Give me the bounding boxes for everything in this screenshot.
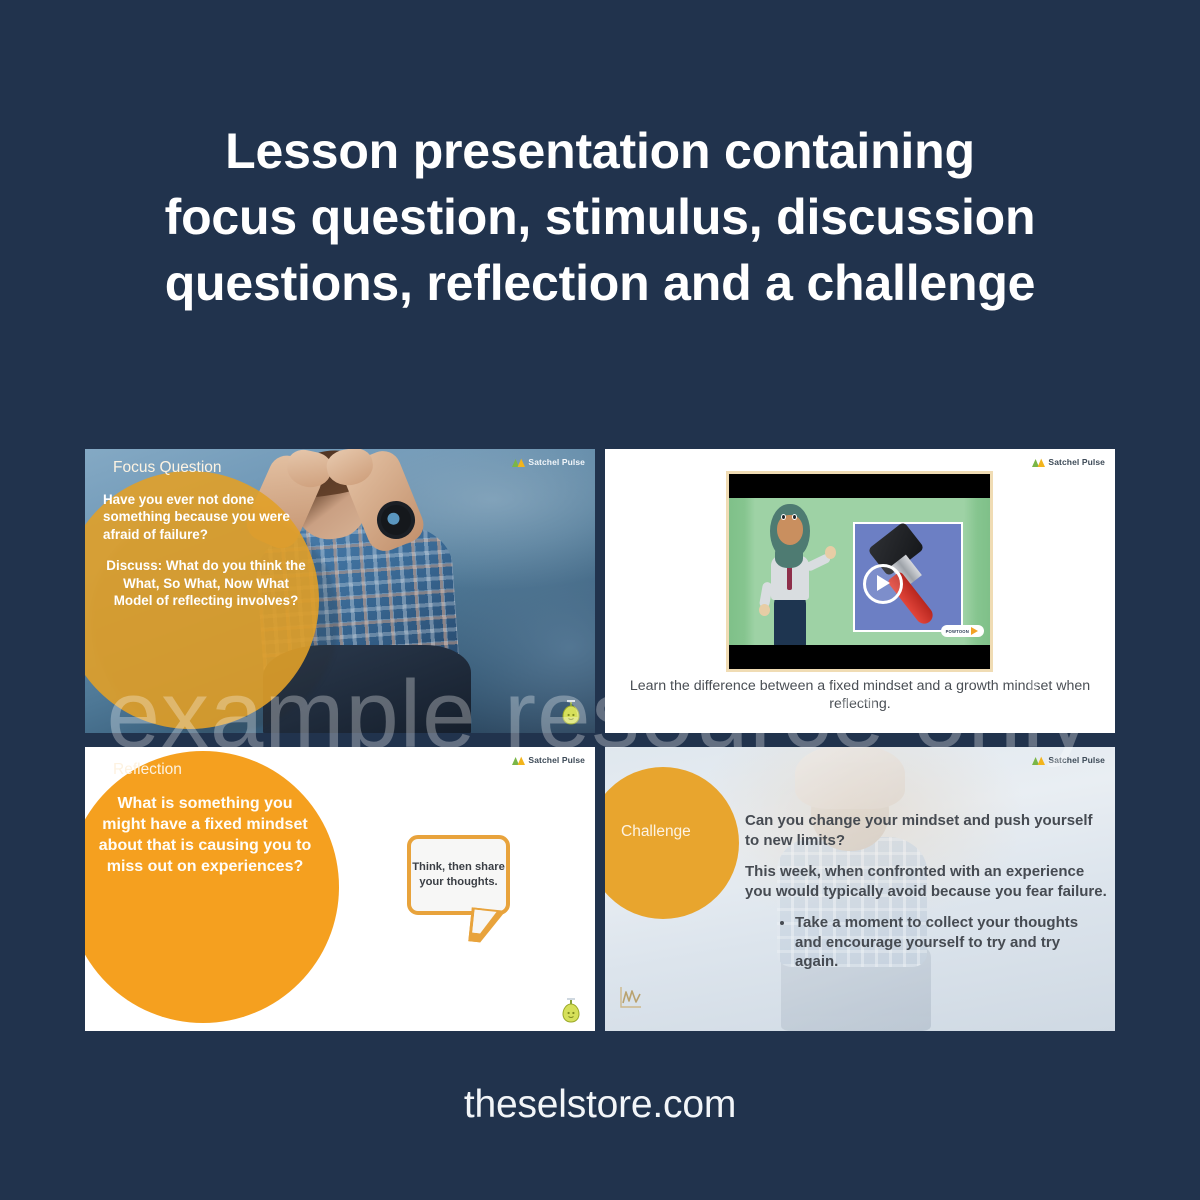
brand-logo: Satchel Pulse (512, 755, 585, 765)
slide-stimulus[interactable]: POWTOON Learn the difference between a f… (605, 449, 1115, 733)
stimulus-caption: Learn the difference between a fixed min… (605, 677, 1115, 713)
pear-icon (561, 699, 581, 725)
character-hand-raised (825, 546, 836, 559)
presenter-character (759, 504, 821, 644)
character-legs (774, 596, 806, 650)
character-face (777, 515, 803, 545)
challenge-bullet-list: Take a moment to collect your thoughts a… (745, 913, 1107, 972)
speech-bubble-text: Think, then share your thoughts. (411, 860, 506, 889)
page-title-line-3: questions, reflection and a challenge (70, 250, 1130, 316)
challenge-text-block: Can you change your mindset and push you… (745, 811, 1107, 972)
brand-logo: Satchel Pulse (1032, 755, 1105, 765)
mountains-icon (512, 458, 525, 467)
challenge-label: Challenge (621, 823, 691, 841)
slide-reflection[interactable]: Reflection What is something you might h… (85, 747, 595, 1031)
brand-name: Satchel Pulse (528, 457, 585, 467)
brand-logo: Satchel Pulse (1032, 457, 1105, 467)
brand-logo: Satchel Pulse (512, 457, 585, 467)
slide-focus-question[interactable]: Focus Question Have you ever not done so… (85, 449, 595, 733)
video-scene: POWTOON (729, 498, 990, 645)
slide-challenge[interactable]: Challenge Can you change your mindset an… (605, 747, 1115, 1031)
challenge-question: Can you change your mindset and push you… (745, 811, 1107, 850)
page-title: Lesson presentation containing focus que… (0, 118, 1200, 316)
brand-name: Satchel Pulse (1048, 755, 1105, 765)
footer-url: theselstore.com (0, 1083, 1200, 1127)
character-scarf (775, 546, 803, 568)
powtoon-arrow-icon (971, 627, 978, 635)
play-button-icon[interactable] (863, 564, 903, 604)
letterbox-top (729, 474, 990, 498)
character-eye-left (781, 514, 786, 520)
character-hand-down (759, 604, 770, 616)
focus-question-question: Have you ever not done something because… (103, 491, 309, 543)
page-title-line-2: focus question, stimulus, discussion (70, 184, 1130, 250)
focus-question-label: Focus Question (113, 459, 222, 477)
brand-name: Satchel Pulse (528, 755, 585, 765)
challenge-instruction: This week, when confronted with an exper… (745, 862, 1107, 901)
list-item: Take a moment to collect your thoughts a… (795, 913, 1107, 972)
reflection-question: What is something you might have a fixed… (97, 793, 313, 877)
pear-icon (561, 997, 581, 1023)
line-chart-icon (617, 985, 643, 1011)
video-player[interactable]: POWTOON (726, 471, 993, 672)
letterbox-bottom (729, 645, 990, 669)
mountains-icon (1032, 756, 1045, 765)
powtoon-label: POWTOON (946, 629, 969, 634)
powtoon-watermark: POWTOON (941, 625, 984, 637)
reflection-label: Reflection (113, 761, 182, 779)
page-title-line-1: Lesson presentation containing (70, 118, 1130, 184)
focus-question-text-block: Have you ever not done something because… (103, 491, 309, 610)
mountains-icon (1032, 458, 1045, 467)
paintbrush-card (853, 522, 963, 632)
speech-bubble-tail (468, 907, 505, 944)
ghost-hands (795, 747, 905, 809)
mountains-icon (512, 756, 525, 765)
character-eye-right (792, 514, 797, 520)
slide-thumbnail-grid: Focus Question Have you ever not done so… (85, 449, 1115, 1031)
focus-question-discuss: Discuss: What do you think the What, So … (103, 557, 309, 609)
brand-name: Satchel Pulse (1048, 457, 1105, 467)
reflection-circle (85, 751, 339, 1023)
speech-bubble: Think, then share your thoughts. (407, 835, 510, 915)
